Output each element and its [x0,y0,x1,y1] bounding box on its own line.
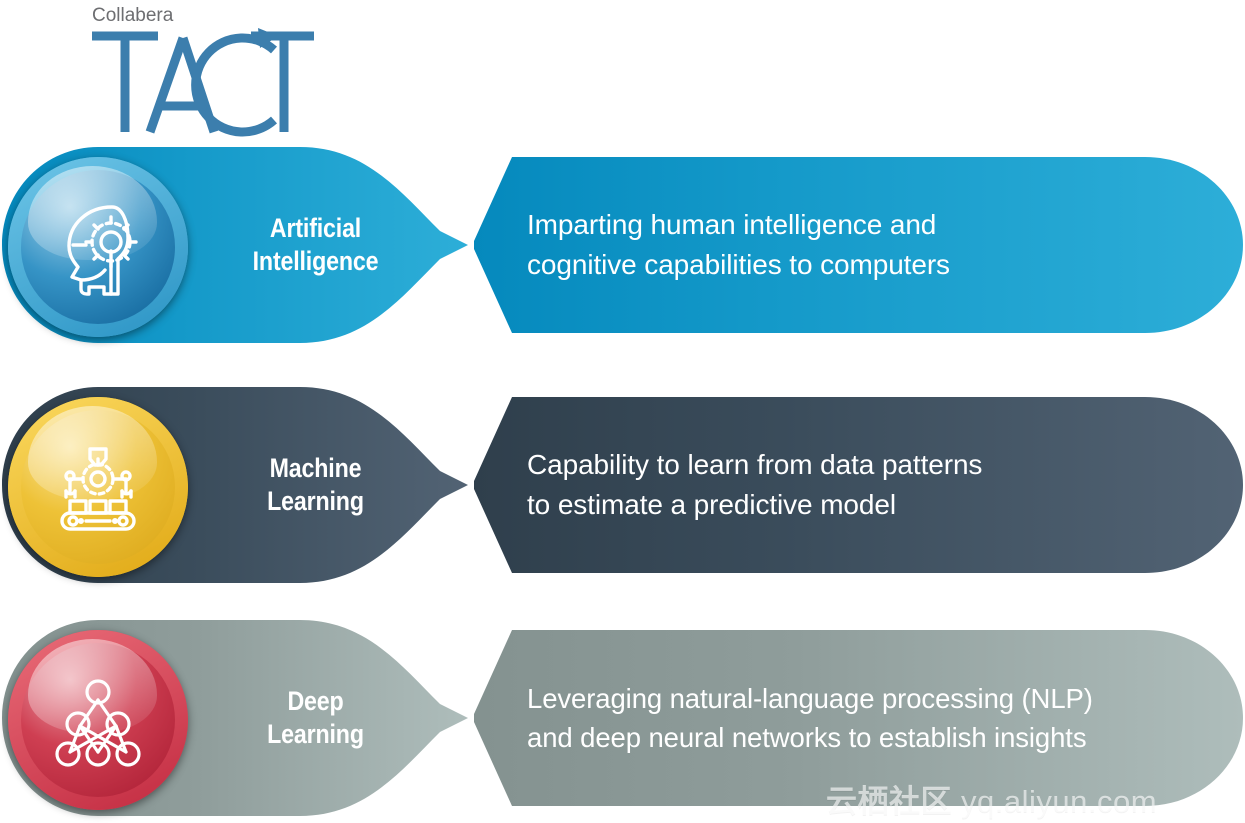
infographic-row-artificial-intelligence: Artificial Intelligence Imparting human … [0,145,1245,345]
row-desc-line1: Leveraging natural-language processing (… [527,679,1237,718]
row-label-line2: Intelligence [253,245,379,278]
neural-network-icon [8,630,188,810]
row-label-deep-learning: Deep Learning [227,618,403,818]
badge-artificial-intelligence [8,157,188,337]
row-label-line1: Deep [287,685,343,718]
row-desc-line1: Capability to learn from data patterns [527,445,1227,485]
row-label-artificial-intelligence: Artificial Intelligence [227,145,403,345]
row-label-machine-learning: Machine Learning [227,385,403,585]
row-desc-line1: Imparting human intelligence and [527,205,1227,245]
watermark-url-text: yq.aliyun.com [961,784,1157,819]
row-desc-line2: to estimate a predictive model [527,485,1227,525]
watermark-cn-text: 云栖社区 [826,784,952,819]
badge-machine-learning [8,397,188,577]
row-description-machine-learning: Capability to learn from data patterns t… [527,385,1227,585]
robot-conveyor-icon [8,397,188,577]
logo-brand-text: Collabera [92,5,174,26]
row-desc-line2: cognitive capabilities to computers [527,245,1227,285]
row-label-line2: Learning [267,485,364,518]
row-description-artificial-intelligence: Imparting human intelligence and cogniti… [527,145,1227,345]
row-label-line1: Machine [270,452,362,485]
row-desc-line2: and deep neural networks to establish in… [527,718,1237,757]
infographic-row-machine-learning: Machine Learning Capability to learn fro… [0,385,1245,585]
row-label-line2: Learning [267,718,364,751]
watermark: 云栖社区yq.aliyun.com [826,776,1157,821]
collabera-tact-logo: Collabera [88,2,318,137]
row-label-line1: Artificial [270,212,361,245]
badge-deep-learning [8,630,188,810]
head-gear-icon [8,157,188,337]
